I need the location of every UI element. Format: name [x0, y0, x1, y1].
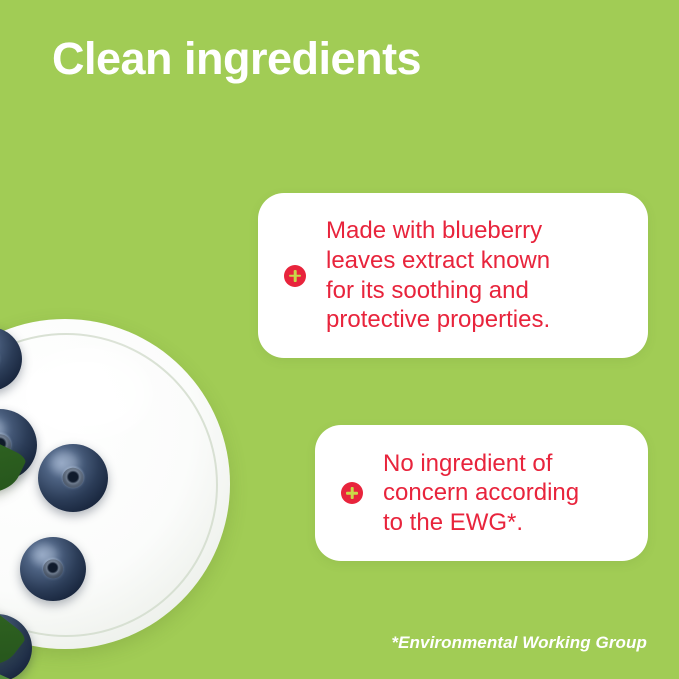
petri-dish-rim [0, 333, 218, 637]
petri-dish [0, 319, 230, 649]
product-claims-poster: Clean ingredients Made with blueberry le… [0, 0, 679, 679]
claim-card-text: Made with blueberry leaves extract known… [326, 216, 568, 334]
claim-card-ingredients: Made with blueberry leaves extract known… [258, 193, 648, 358]
blueberry [20, 537, 86, 601]
claim-card-text: No ingredient of concern according to th… [383, 449, 597, 538]
footnote: *Environmental Working Group [391, 633, 647, 653]
leaf-stem [0, 662, 59, 679]
blueberry-leaf [0, 388, 28, 523]
blueberry [0, 409, 37, 481]
blueberry [38, 444, 108, 512]
petri-dish-highlight [20, 349, 150, 439]
page-title: Clean ingredients [52, 34, 421, 84]
blueberry-leaf [0, 533, 28, 679]
blueberry [0, 614, 32, 679]
claim-card-ewg: No ingredient of concern according to th… [315, 425, 648, 561]
blueberry [0, 327, 22, 391]
blueberry-photo [0, 309, 290, 679]
plus-icon [341, 482, 363, 504]
plus-icon [284, 265, 306, 287]
